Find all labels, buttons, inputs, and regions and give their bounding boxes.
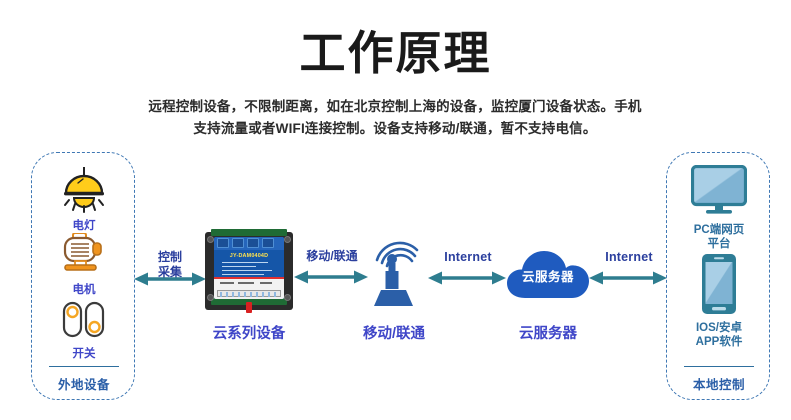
module-model-text: JY-DAM0404D [214, 253, 284, 259]
module-pin-row [217, 290, 281, 297]
link-mobile-arrow [294, 270, 368, 289]
link-internet-right-caption: Internet [589, 250, 669, 265]
link-mobile-caption: 移动/联通 [294, 249, 370, 264]
subtitle-line-1: 远程控制设备，不限制距离，如在北京控制上海的设备，监控厦门设备状态。手机 [95, 96, 695, 118]
page-title: 工作原理 [0, 26, 791, 80]
module-green-terminal-top [211, 229, 287, 236]
cloud-server-label: 云服务器 [489, 322, 607, 343]
pc-web-label-line-1: PC端网页 [667, 223, 771, 237]
work-principle-diagram: 工作原理 远程控制设备，不限制距离，如在北京控制上海的设备，监控厦门设备状态。手… [0, 0, 791, 420]
link-internet-right-arrow [589, 271, 667, 290]
antenna-tower-label: 移动/联通 [335, 322, 453, 343]
pc-web-label: PC端网页 平台 [667, 223, 771, 251]
app-label-line-1: IOS/安卓 [667, 321, 771, 335]
controller-module-icon: JY-DAM0404D [205, 232, 293, 310]
app-label: IOS/安卓 APP软件 [667, 321, 771, 349]
link-control-arrow [134, 272, 206, 291]
phone-icon [701, 253, 737, 315]
left-panel-title: 外地设备 [32, 374, 136, 393]
module-screw-tl [207, 236, 214, 243]
motor-icon [60, 233, 108, 275]
right-panel-title: 本地控制 [667, 374, 771, 393]
link-internet-left-arrow [428, 271, 506, 290]
controller-module-label: 云系列设备 [190, 322, 308, 343]
module-screw-bl [207, 294, 214, 301]
module-terminal-strip [214, 237, 284, 250]
left-panel-divider [49, 366, 119, 367]
lamp-label: 电灯 [32, 219, 136, 233]
link-control-caption-line-1: 控制 [138, 250, 202, 265]
module-faceplate: JY-DAM0404D [214, 237, 284, 299]
cloud-icon: 云服务器 [505, 248, 591, 300]
switch-label: 开关 [32, 347, 136, 361]
local-control-panel: PC端网页 平台 IOS/安卓 [666, 152, 770, 400]
switch-icon [62, 301, 106, 341]
page-subtitle: 远程控制设备，不限制距离，如在北京控制上海的设备，监控厦门设备状态。手机 支持流… [95, 96, 695, 140]
motor-label: 电机 [32, 283, 136, 297]
cloud-inner-text: 云服务器 [505, 266, 591, 285]
subtitle-line-2: 支持流量或者WIFI连接控制。设备支持移动/联通，暂不支持电信。 [95, 118, 695, 140]
module-screw-tr [284, 236, 291, 243]
link-internet-left-caption: Internet [428, 250, 508, 265]
right-panel-divider [684, 366, 754, 367]
monitor-icon [691, 165, 747, 217]
remote-devices-panel: 电灯 电机 开关 [31, 152, 135, 400]
antenna-tower-icon [365, 216, 423, 308]
pc-web-label-line-2: 平台 [667, 237, 771, 251]
lamp-icon [62, 167, 106, 217]
app-label-line-2: APP软件 [667, 335, 771, 349]
module-antenna-connector [246, 302, 252, 313]
module-screw-br [284, 294, 291, 301]
